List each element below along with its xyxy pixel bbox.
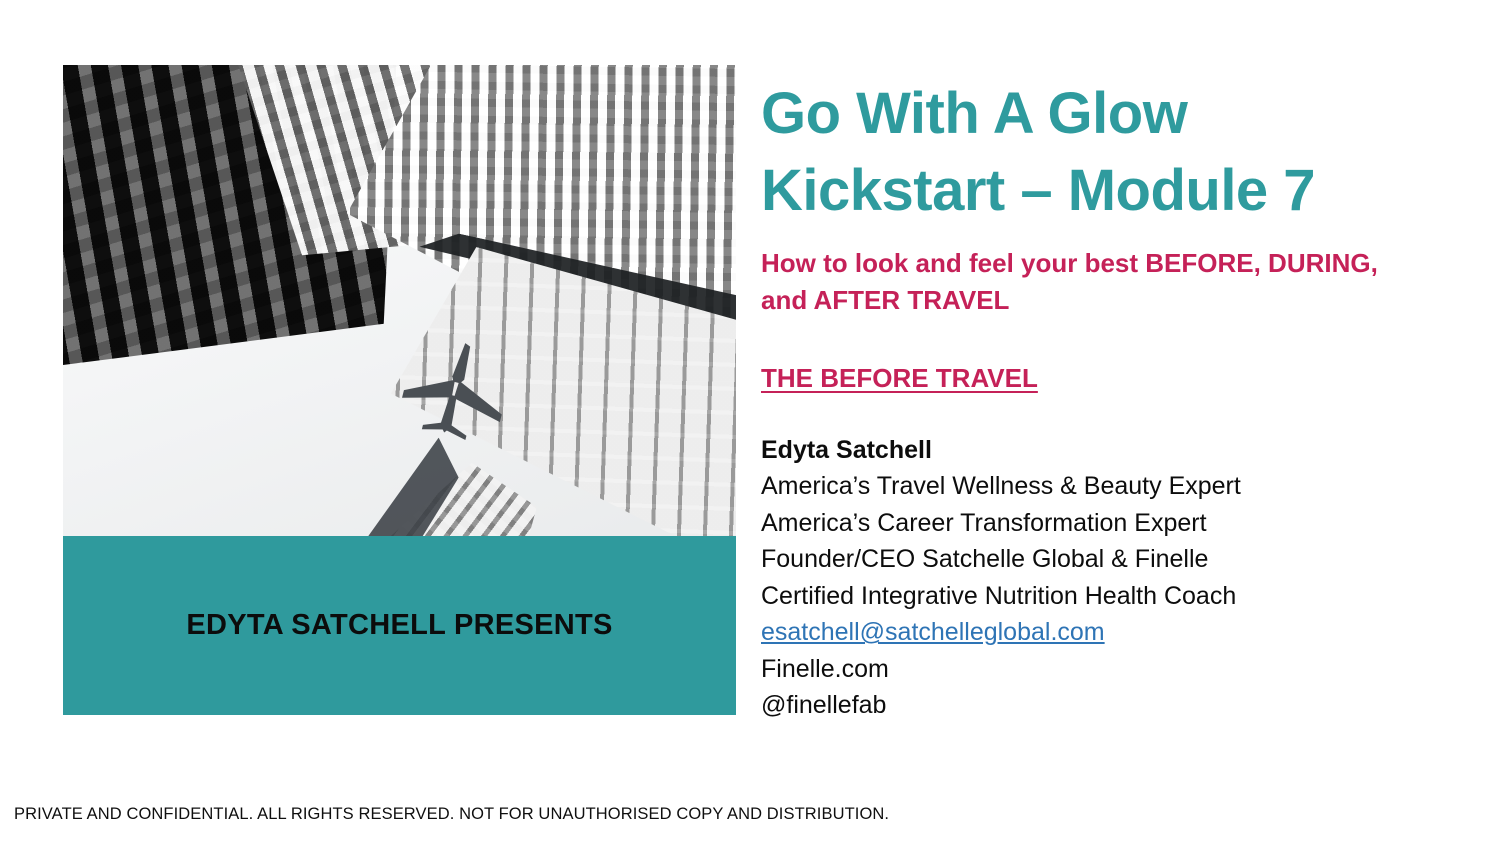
slide-subtitle: How to look and feel your best BEFORE, D… [761, 245, 1401, 319]
slide-title-line-1: Go With A Glow [761, 81, 1187, 146]
section-heading: THE BEFORE TRAVEL [761, 363, 1038, 394]
presenter-banner: EDYTA SATCHELL PRESENTS [63, 536, 736, 715]
slide-title-line-2: Kickstart – Module 7 [761, 158, 1315, 223]
presenter-website: Finelle.com [761, 651, 1481, 688]
presenter-credential: Certified Integrative Nutrition Health C… [761, 578, 1481, 615]
presenter-credential: America’s Travel Wellness & Beauty Exper… [761, 468, 1481, 505]
presenter-name: Edyta Satchell [761, 432, 1481, 469]
slide-canvas: EDYTA SATCHELL PRESENTS Go With A Glow K… [0, 0, 1510, 850]
title-visual-block: EDYTA SATCHELL PRESENTS [63, 65, 736, 715]
confidentiality-footer: PRIVATE AND CONFIDENTIAL. ALL RIGHTS RES… [14, 805, 889, 824]
presenter-email-link[interactable]: esatchell@satchelleglobal.com [761, 614, 1481, 651]
presenter-credential: America’s Career Transformation Expert [761, 505, 1481, 542]
slide-text-column: Go With A Glow Kickstart – Module 7 How … [761, 76, 1481, 724]
presenter-social-handle: @finellefab [761, 687, 1481, 724]
presenter-bio: Edyta Satchell America’s Travel Wellness… [761, 432, 1481, 724]
slide-title: Go With A Glow Kickstart – Module 7 [761, 76, 1481, 229]
skyscraper-photo [63, 65, 736, 536]
banner-caption-text: EDYTA SATCHELL PRESENTS [186, 609, 612, 642]
presenter-credential: Founder/CEO Satchelle Global & Finelle [761, 541, 1481, 578]
